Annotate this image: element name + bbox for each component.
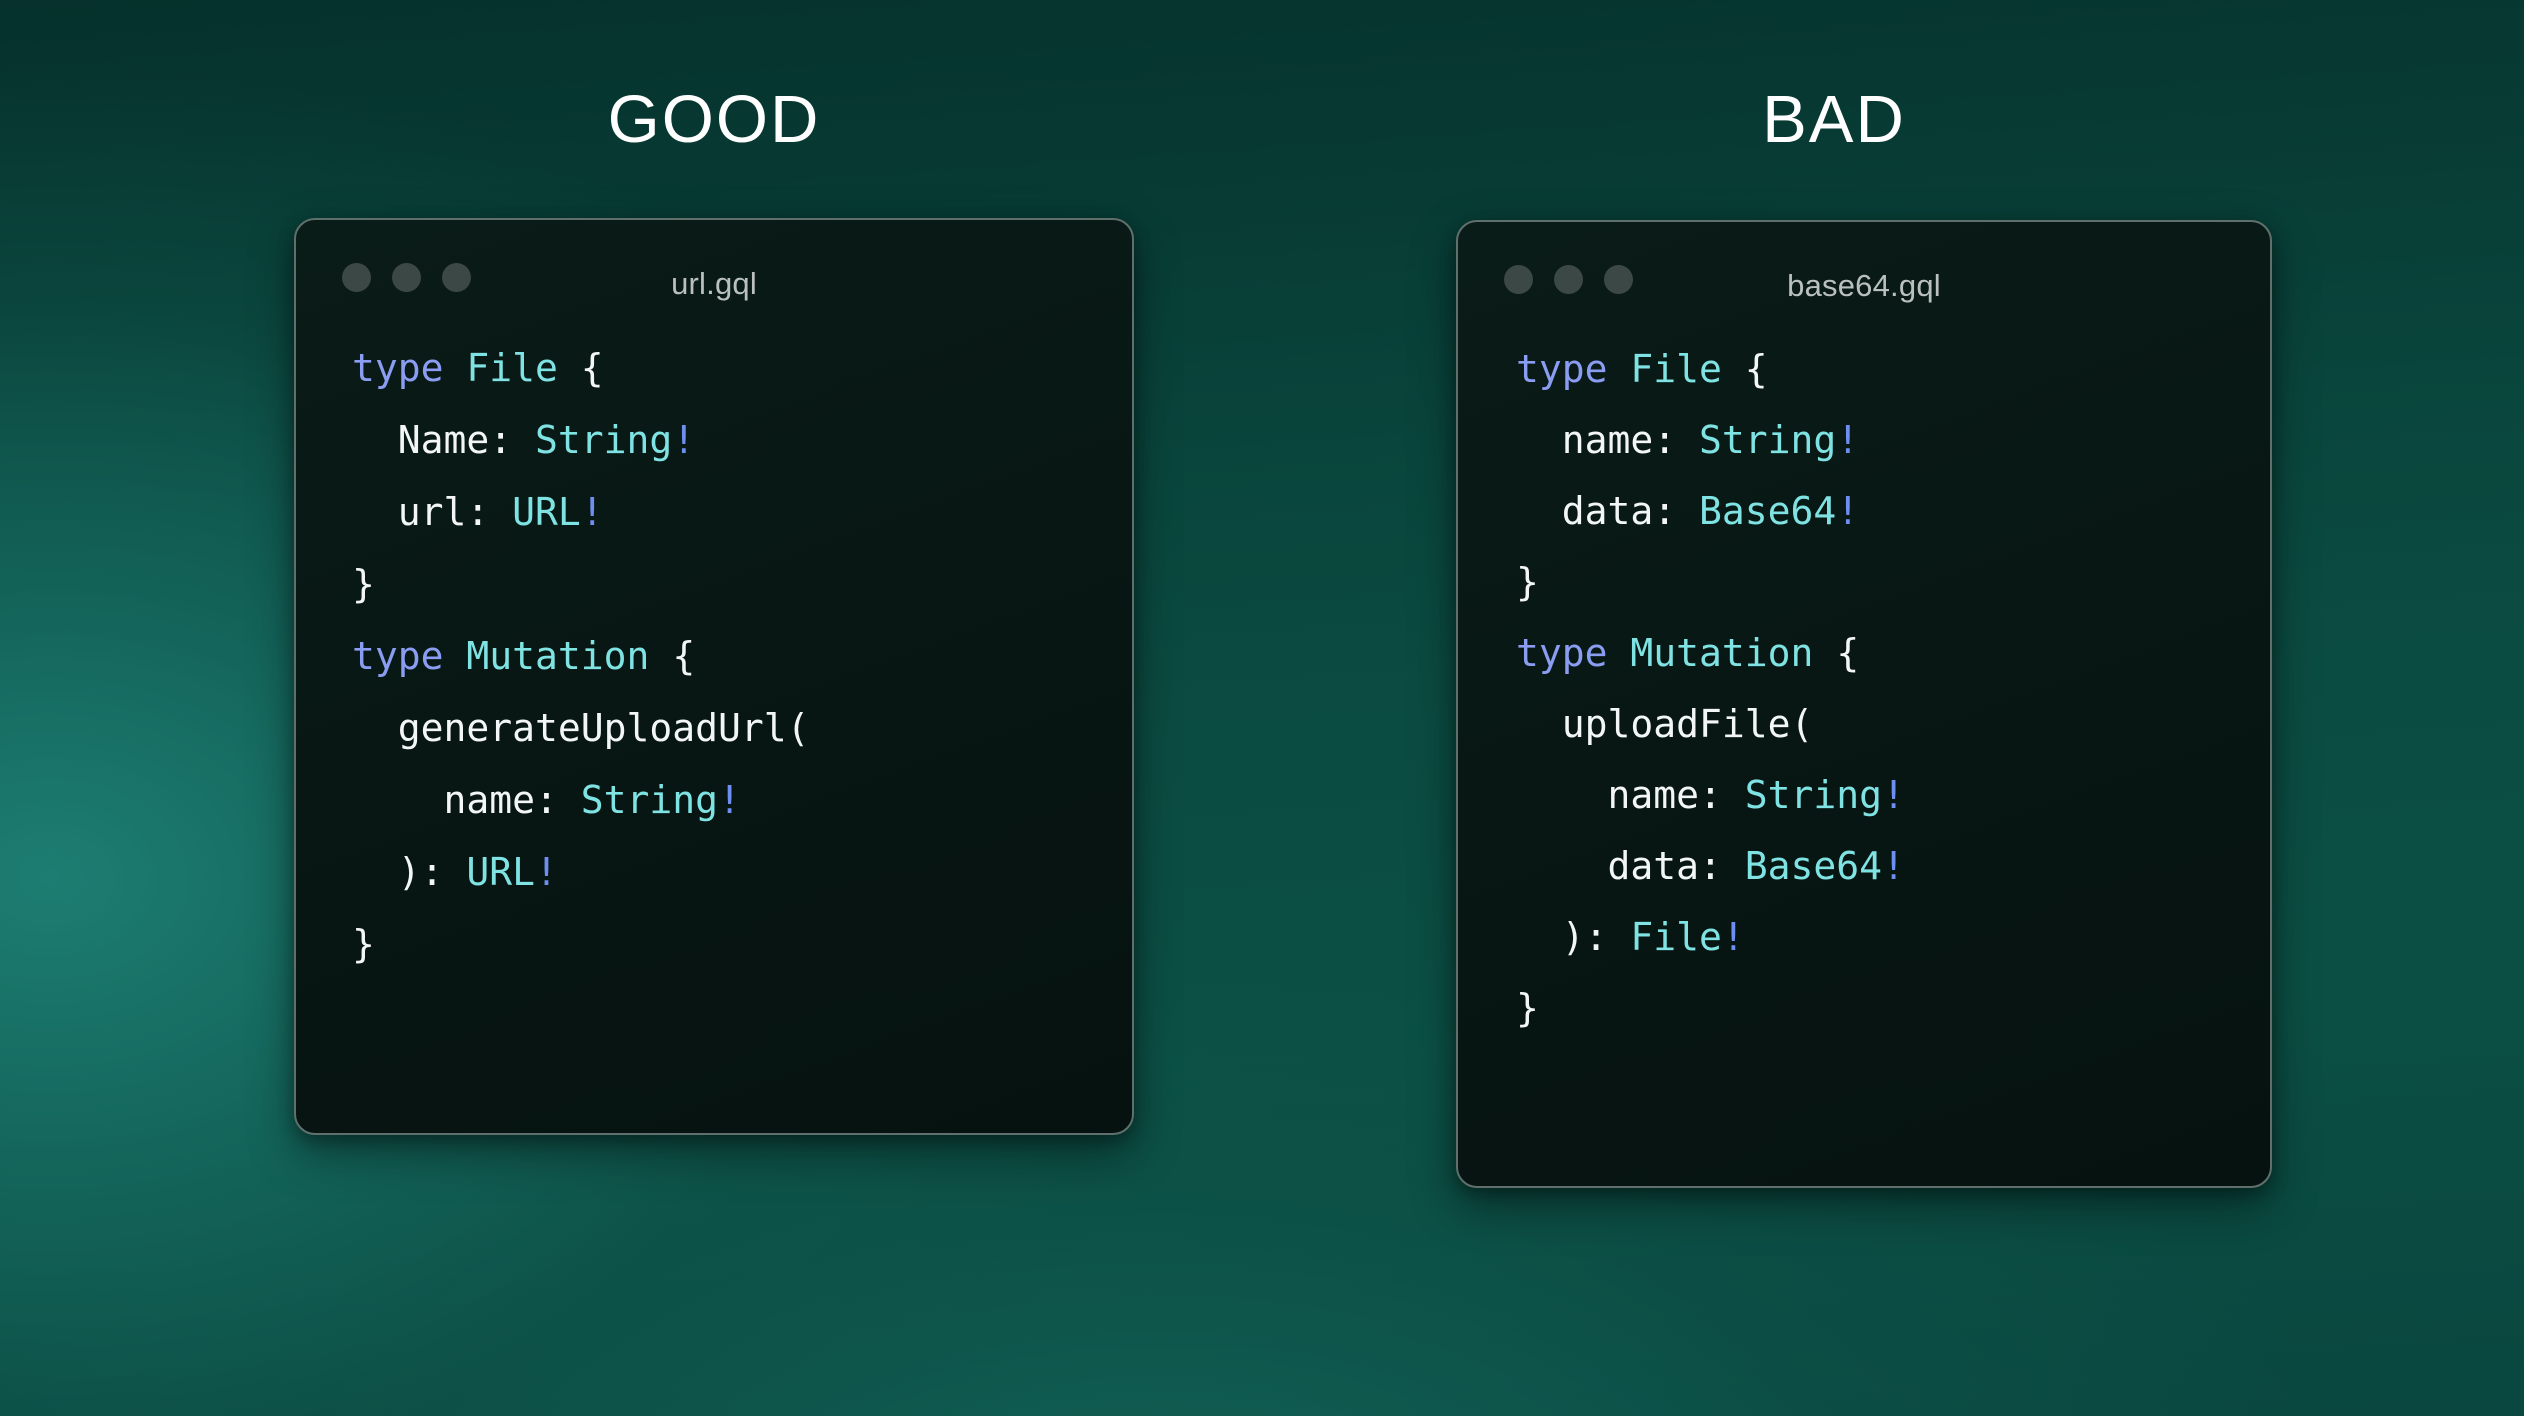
- code-token-kw: type: [352, 634, 444, 678]
- code-token-type: File: [1630, 915, 1722, 959]
- code-token-punc: {: [1722, 347, 1768, 391]
- code-token-bang: !: [535, 850, 558, 894]
- code-token-type: URL: [512, 490, 581, 534]
- code-line: name: String!: [1516, 760, 2270, 831]
- code-token-type: Mutation: [1630, 631, 1813, 675]
- code-line: name: String!: [352, 764, 1132, 836]
- good-heading: GOOD: [294, 86, 1134, 153]
- bad-code-window: base64.gql type File { name: String! dat…: [1456, 220, 2272, 1188]
- good-code-window: url.gql type File { Name: String! url: U…: [294, 218, 1134, 1135]
- code-line: type File {: [1516, 334, 2270, 405]
- code-line: type Mutation {: [1516, 618, 2270, 689]
- good-code-body: type File { Name: String! url: URL!}type…: [296, 332, 1132, 980]
- bad-window-filename: base64.gql: [1458, 268, 2270, 304]
- code-token-type: String: [1699, 418, 1836, 462]
- code-line: data: Base64!: [1516, 831, 2270, 902]
- code-token-plain: data:: [1516, 844, 1745, 888]
- code-token-bang: !: [1882, 844, 1905, 888]
- code-token-type: String: [1745, 773, 1882, 817]
- code-token-plain: [1608, 631, 1631, 675]
- code-line: type File {: [352, 332, 1132, 404]
- code-token-punc: {: [649, 634, 695, 678]
- good-window-titlebar: url.gql: [296, 220, 1132, 332]
- code-line: name: String!: [1516, 405, 2270, 476]
- code-line: uploadFile(: [1516, 689, 2270, 760]
- code-token-type: Mutation: [466, 634, 649, 678]
- code-token-plain: generateUploadUrl(: [352, 706, 810, 750]
- code-token-kw: type: [1516, 347, 1608, 391]
- code-token-punc: {: [558, 346, 604, 390]
- code-token-plain: ):: [352, 850, 466, 894]
- code-token-bang: !: [1836, 418, 1859, 462]
- code-token-type: URL: [466, 850, 535, 894]
- code-token-punc: }: [352, 562, 375, 606]
- code-token-bang: !: [581, 490, 604, 534]
- bad-window-titlebar: base64.gql: [1458, 222, 2270, 334]
- code-token-plain: name:: [1516, 773, 1745, 817]
- code-line: generateUploadUrl(: [352, 692, 1132, 764]
- code-token-punc: }: [1516, 986, 1539, 1030]
- bad-code-body: type File { name: String! data: Base64!}…: [1458, 334, 2270, 1044]
- code-token-plain: name:: [1516, 418, 1699, 462]
- code-line: type Mutation {: [352, 620, 1132, 692]
- code-token-type: String: [581, 778, 718, 822]
- code-token-bang: !: [718, 778, 741, 822]
- code-line: Name: String!: [352, 404, 1132, 476]
- code-line: }: [352, 548, 1132, 620]
- code-token-bang: !: [1882, 773, 1905, 817]
- code-token-plain: name:: [352, 778, 581, 822]
- good-window-filename: url.gql: [296, 266, 1132, 302]
- code-token-type: File: [466, 346, 558, 390]
- code-token-plain: Name:: [352, 418, 535, 462]
- code-token-punc: }: [352, 922, 375, 966]
- code-line: }: [1516, 547, 2270, 618]
- code-token-type: File: [1630, 347, 1722, 391]
- code-token-plain: [1608, 347, 1631, 391]
- code-token-type: Base64: [1745, 844, 1882, 888]
- comparison-stage: GOOD url.gql type File { Name: String! u…: [0, 0, 2524, 1416]
- code-token-plain: [444, 346, 467, 390]
- code-token-kw: type: [352, 346, 444, 390]
- code-line: ): URL!: [352, 836, 1132, 908]
- code-line: url: URL!: [352, 476, 1132, 548]
- code-token-plain: url:: [352, 490, 512, 534]
- code-line: }: [352, 908, 1132, 980]
- bad-heading: BAD: [1456, 86, 2212, 153]
- code-token-bang: !: [1836, 489, 1859, 533]
- code-token-plain: data:: [1516, 489, 1699, 533]
- code-token-plain: ):: [1516, 915, 1630, 959]
- code-token-type: Base64: [1699, 489, 1836, 533]
- code-token-type: String: [535, 418, 672, 462]
- code-token-punc: }: [1516, 560, 1539, 604]
- code-token-bang: !: [672, 418, 695, 462]
- code-token-punc: {: [1813, 631, 1859, 675]
- code-line: data: Base64!: [1516, 476, 2270, 547]
- code-line: ): File!: [1516, 902, 2270, 973]
- code-token-kw: type: [1516, 631, 1608, 675]
- code-token-plain: uploadFile(: [1516, 702, 1813, 746]
- code-token-bang: !: [1722, 915, 1745, 959]
- code-line: }: [1516, 973, 2270, 1044]
- code-token-plain: [444, 634, 467, 678]
